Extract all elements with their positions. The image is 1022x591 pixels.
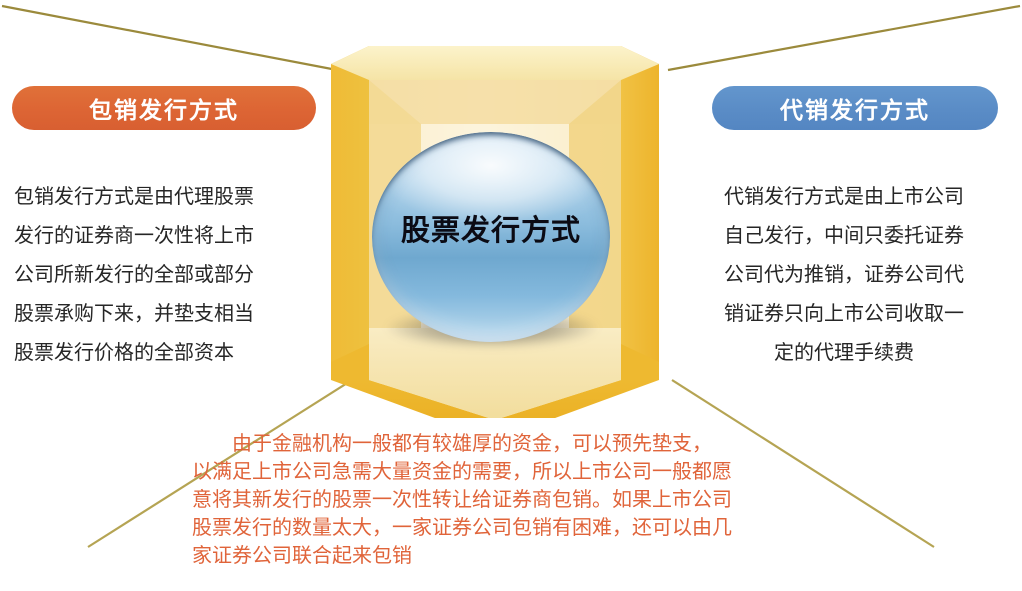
left-branch-title-text: 包销发行方式 (89, 91, 239, 125)
right-branch-paragraph: 代销发行方式是由上市公司 自己发行，中间只委托证券 公司代为推销，证券公司代 销… (694, 178, 994, 373)
center-label: 股票发行方式 (372, 207, 610, 249)
left-branch-title-pill[interactable]: 包销发行方式 (12, 86, 316, 130)
left-paragraph-line: 股票承购下来，并垫支相当 (14, 295, 254, 334)
diagram-canvas: 股票发行方式 包销发行方式 代销发行方式 包销发行方式是由代理股票 发行的证券商… (0, 0, 1022, 591)
right-branch-title-text: 代销发行方式 (780, 91, 930, 125)
connector-top-left (2, 6, 337, 70)
bottom-note-line: 意将其新发行的股票一次性转让给证券商包销。如果上市公司 (192, 486, 892, 514)
left-paragraph-line: 发行的证券商一次性将上市 (14, 217, 254, 256)
right-paragraph-line: 公司代为推销，证券公司代 (694, 256, 994, 295)
center-sphere: 股票发行方式 (372, 132, 612, 344)
connector-top-right (668, 6, 1020, 70)
right-paragraph-line: 代销发行方式是由上市公司 (694, 178, 994, 217)
bottom-note-line: 由于金融机构一般都有较雄厚的资金，可以预先垫支， (192, 430, 892, 458)
left-paragraph-line: 股票发行价格的全部资本 (14, 334, 254, 373)
bottom-note-line: 以满足上市公司急需大量资金的需要，所以上市公司一般都愿 (192, 458, 892, 486)
left-paragraph-line: 包销发行方式是由代理股票 (14, 178, 254, 217)
right-paragraph-line: 定的代理手续费 (694, 334, 994, 373)
right-branch-title-pill[interactable]: 代销发行方式 (712, 86, 998, 130)
bottom-note: 由于金融机构一般都有较雄厚的资金，可以预先垫支， 以满足上市公司急需大量资金的需… (192, 430, 892, 570)
right-paragraph-line: 销证券只向上市公司收取一 (694, 295, 994, 334)
bottom-note-line: 家证券公司联合起来包销 (192, 542, 892, 570)
right-paragraph-line: 自己发行，中间只委托证券 (694, 217, 994, 256)
left-paragraph-line: 公司所新发行的全部或部分 (14, 256, 254, 295)
bottom-note-line: 股票发行的数量太大，一家证券公司包销有困难，还可以由几 (192, 514, 892, 542)
left-branch-paragraph: 包销发行方式是由代理股票 发行的证券商一次性将上市 公司所新发行的全部或部分 股… (14, 178, 254, 373)
